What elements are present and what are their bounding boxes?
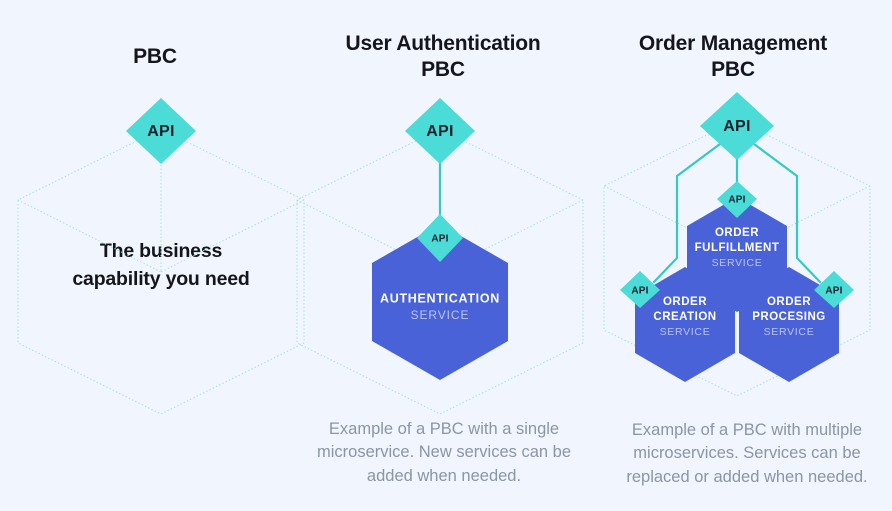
service-name-line2: PROCESING: [752, 311, 826, 323]
api-node-2[interactable]: API: [405, 98, 475, 164]
api-node-label: API: [723, 118, 751, 135]
service-name-line2: FULFILLMENT: [695, 242, 780, 254]
api-node-label: API: [147, 123, 175, 140]
service-sub-label: SERVICE: [411, 308, 470, 322]
pbc-diagram-canvas: PBC User AuthenticationPBC Order Managem…: [0, 0, 892, 511]
service-sub-label: SERVICE: [660, 326, 711, 338]
service-name-line1: ORDER: [715, 227, 759, 239]
service-sub-label: SERVICE: [712, 257, 763, 269]
api-node-label: API: [426, 123, 454, 140]
api-node-label: API: [825, 286, 842, 297]
api-node-label: API: [631, 286, 648, 297]
panel-user-authentication-pbc: AUTHENTICATION SERVICE API API: [297, 98, 583, 414]
service-name-line1: ORDER: [767, 296, 811, 308]
service-sub-label: SERVICE: [764, 326, 815, 338]
service-name-line2: CREATION: [653, 311, 716, 323]
dashed-hexagon-outline-1: [18, 129, 304, 414]
diagram-svg: API AUTHENTICATION SERVICE API: [0, 0, 892, 511]
api-node-label: API: [728, 195, 745, 206]
service-name-line1: ORDER: [663, 296, 707, 308]
panel-order-management-pbc: ORDER FULFILLMENT SERVICE API ORDER CREA…: [604, 92, 870, 396]
api-node-label: API: [431, 234, 448, 245]
api-node-1[interactable]: API: [126, 98, 196, 164]
service-name-label: AUTHENTICATION: [380, 291, 500, 305]
panel-pbc-generic: API: [18, 98, 304, 414]
